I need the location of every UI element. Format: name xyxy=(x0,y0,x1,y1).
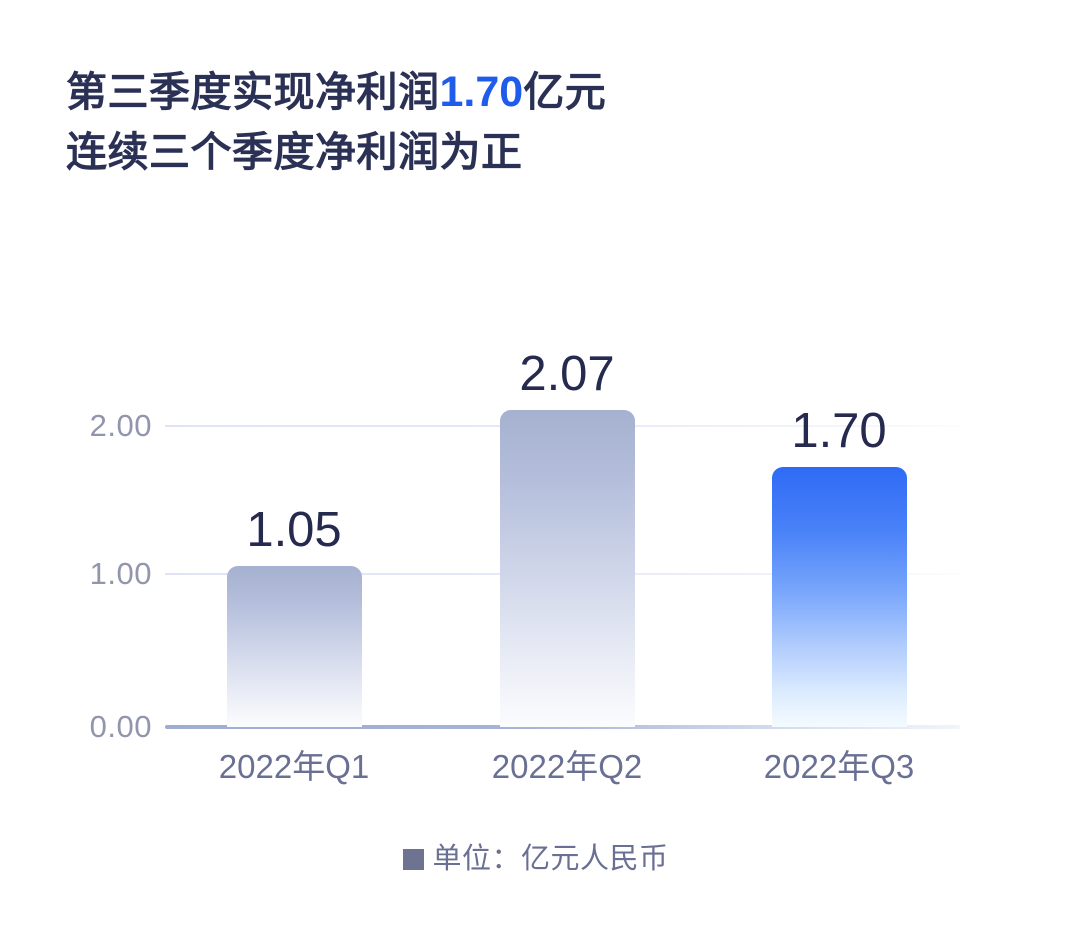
bar-value-2022-q1: 1.05 xyxy=(194,506,394,555)
x-axis-label-2022-q3: 2022年Q3 xyxy=(724,750,954,783)
y-axis-labels: 2.00 1.00 0.00 xyxy=(48,0,152,932)
chart-legend: 单位：亿元人民币 xyxy=(0,845,1072,874)
bar-2022-q2[interactable] xyxy=(500,410,635,727)
y-tick-label-0: 0.00 xyxy=(52,711,152,742)
bar-value-2022-q2: 2.07 xyxy=(467,350,667,399)
bar-2022-q3[interactable] xyxy=(772,467,907,727)
x-axis-label-2022-q1: 2022年Q1 xyxy=(179,750,409,783)
legend-label: 单位：亿元人民币 xyxy=(432,845,668,874)
bar-value-2022-q3: 1.70 xyxy=(739,407,939,456)
bar-chart: 2.00 1.00 0.00 1.05 2.07 1.70 2022年Q1 20… xyxy=(0,0,1072,932)
bar-2022-q1[interactable] xyxy=(227,566,362,727)
y-tick-label-2: 2.00 xyxy=(52,410,152,441)
x-axis-label-2022-q2: 2022年Q2 xyxy=(452,750,682,783)
y-tick-label-1: 1.00 xyxy=(52,558,152,589)
legend-square-icon xyxy=(403,849,424,870)
